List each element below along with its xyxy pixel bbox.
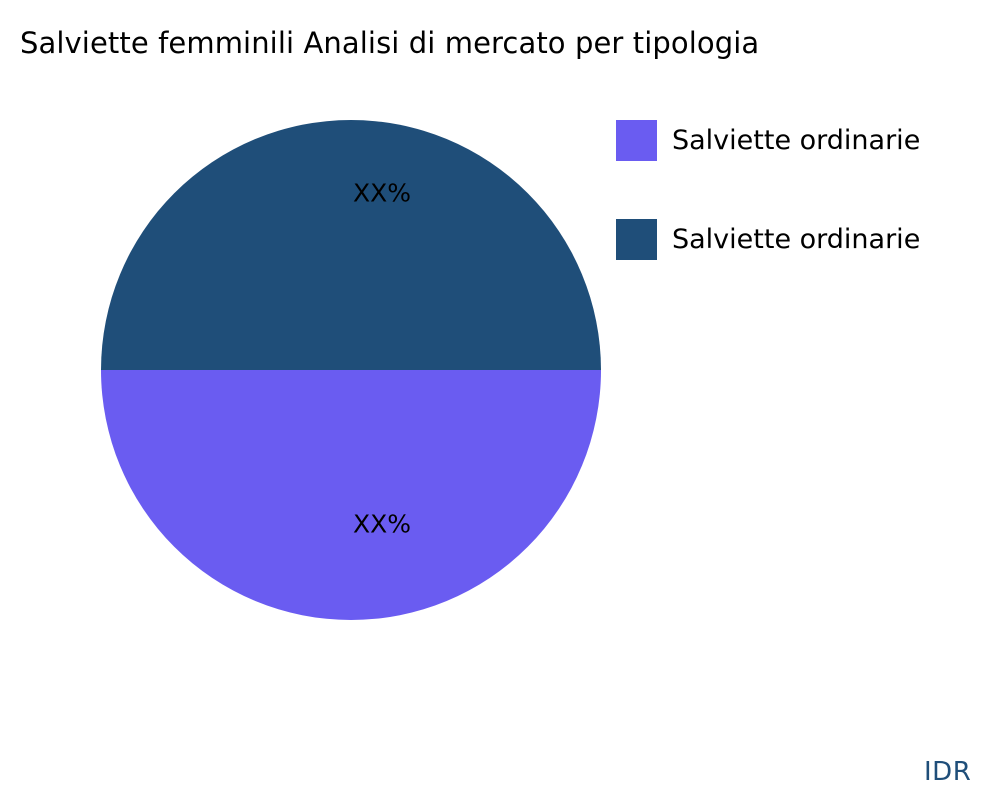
pie-slice-label-2: XX% xyxy=(353,181,411,206)
watermark-idr: IDR xyxy=(924,757,971,787)
pie-svg xyxy=(101,120,601,620)
legend-item-salviette-ordinarie-2[interactable]: Salviette ordinarie xyxy=(616,219,976,260)
legend-color-swatch-1 xyxy=(616,120,657,161)
chart-legend: Salviette ordinarie Salviette ordinarie xyxy=(616,120,976,318)
chart-title: Salviette femminili Analisi di mercato p… xyxy=(20,24,759,62)
legend-item-salviette-ordinarie-1[interactable]: Salviette ordinarie xyxy=(616,120,976,161)
pie-chart-figure: Salviette femminili Analisi di mercato p… xyxy=(0,0,1000,800)
pie-slice-salviette-ordinarie-1[interactable] xyxy=(101,370,601,620)
pie-plot-area: XX% XX% xyxy=(101,120,601,620)
legend-item-label-1: Salviette ordinarie xyxy=(672,126,920,156)
pie-slice-salviette-ordinarie-2[interactable] xyxy=(101,120,601,370)
pie-slice-label-1: XX% xyxy=(353,512,411,537)
legend-color-swatch-2 xyxy=(616,219,657,260)
legend-item-label-2: Salviette ordinarie xyxy=(672,225,920,255)
